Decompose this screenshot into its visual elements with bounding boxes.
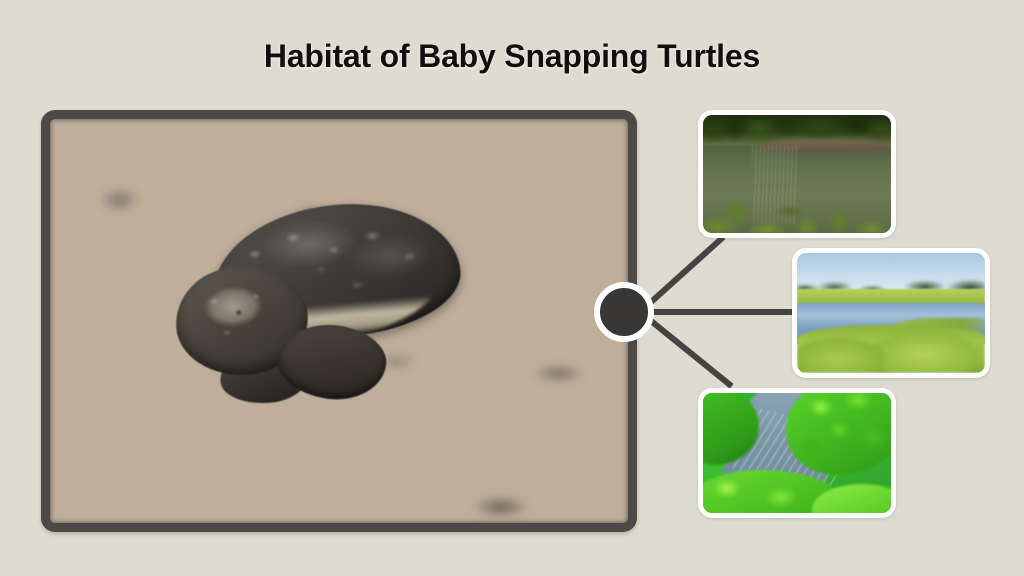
habitat-thumbnail-pond[interactable]	[698, 110, 896, 238]
pond-treeline	[703, 115, 891, 155]
habitat-thumbnail-stream[interactable]	[698, 388, 896, 518]
habitat-hub-node[interactable]	[594, 282, 654, 342]
hero-image-frame	[41, 110, 637, 532]
stream-right-bank-shrub	[786, 393, 891, 475]
pond-shoreline-grass	[703, 181, 891, 233]
page-title: Habitat of Baby Snapping Turtles	[0, 38, 1024, 75]
turtle-figure	[160, 205, 460, 410]
marsh-photo	[797, 253, 985, 373]
habitat-thumbnail-marsh[interactable]	[792, 248, 990, 378]
stream-photo	[703, 393, 891, 513]
slide-canvas: Habitat of Baby Snapping Turtles	[0, 0, 1024, 576]
pond-photo	[703, 115, 891, 233]
connector-to-marsh	[640, 309, 802, 315]
baby-snapping-turtle-photo	[50, 119, 628, 523]
marsh-foreground-grass	[797, 325, 985, 373]
